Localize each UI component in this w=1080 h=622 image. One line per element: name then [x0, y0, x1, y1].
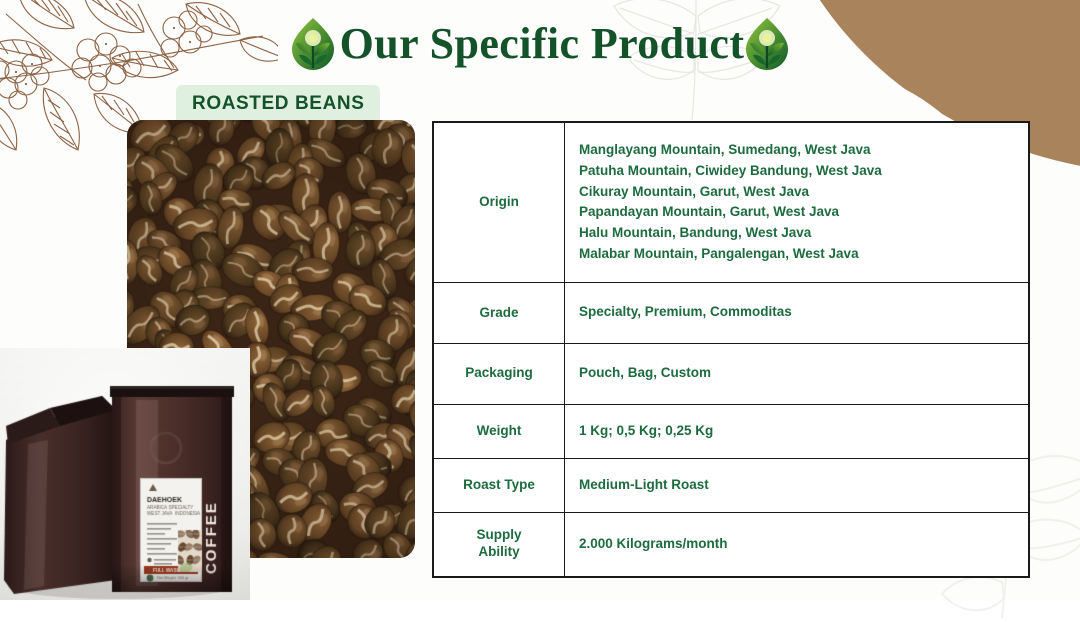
spec-value-line: Malabar Mountain, Pangalengan, West Java: [579, 244, 1028, 265]
spec-value: Specialty, Premium, Commoditas: [565, 282, 1030, 343]
spec-value-line: Manglayang Mountain, Sumedang, West Java: [579, 140, 1028, 161]
spec-value-line: 1 Kg; 0,5 Kg; 0,25 Kg: [579, 421, 1028, 442]
spec-value: 2.000 Kilograms/month: [565, 512, 1030, 577]
table-row: PackagingPouch, Bag, Custom: [433, 343, 1029, 404]
spec-value-line: Medium-Light Roast: [579, 475, 1028, 496]
table-row: OriginManglayang Mountain, Sumedang, Wes…: [433, 122, 1029, 282]
leaf-sprout-logo-icon: [290, 16, 336, 72]
spec-value-line: Patuha Mountain, Ciwidey Bandung, West J…: [579, 161, 1028, 182]
spec-key: Grade: [433, 282, 565, 343]
page-header: Our Specific Product: [0, 16, 1080, 72]
table-row: Weight1 Kg; 0,5 Kg; 0,25 Kg: [433, 404, 1029, 458]
coffee-bag-photo: [0, 348, 250, 600]
spec-key: Packaging: [433, 343, 565, 404]
spec-value-line: Papandayan Mountain, Garut, West Java: [579, 202, 1028, 223]
leaf-sprout-logo-icon: [744, 16, 790, 72]
spec-value: 1 Kg; 0,5 Kg; 0,25 Kg: [565, 404, 1030, 458]
spec-value: Pouch, Bag, Custom: [565, 343, 1030, 404]
table-row: Roast TypeMedium-Light Roast: [433, 458, 1029, 512]
table-row: GradeSpecialty, Premium, Commoditas: [433, 282, 1029, 343]
product-spec-table: OriginManglayang Mountain, Sumedang, Wes…: [432, 121, 1030, 578]
spec-value-line: 2.000 Kilograms/month: [579, 534, 1028, 555]
table-row: SupplyAbility2.000 Kilograms/month: [433, 512, 1029, 577]
spec-value: Medium-Light Roast: [565, 458, 1030, 512]
page-title: Our Specific Product: [340, 22, 745, 66]
spec-value-line: Halu Mountain, Bandung, West Java: [579, 223, 1028, 244]
spec-key: Weight: [433, 404, 565, 458]
spec-value-line: Specialty, Premium, Commoditas: [579, 302, 1028, 323]
spec-key: Origin: [433, 122, 565, 282]
spec-value: Manglayang Mountain, Sumedang, West Java…: [565, 122, 1030, 282]
spec-key: Roast Type: [433, 458, 565, 512]
spec-key: SupplyAbility: [433, 512, 565, 577]
roasted-beans-badge: ROASTED BEANS: [176, 85, 380, 124]
spec-value-line: Pouch, Bag, Custom: [579, 363, 1028, 384]
spec-value-line: Cikuray Mountain, Garut, West Java: [579, 182, 1028, 203]
